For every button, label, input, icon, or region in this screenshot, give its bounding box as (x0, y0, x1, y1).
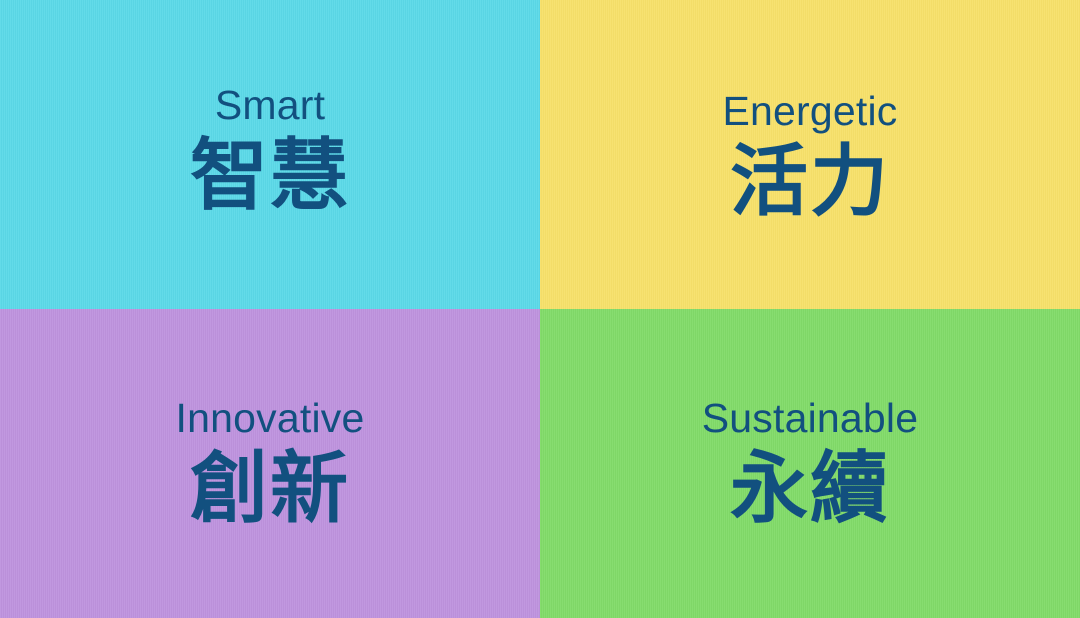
quadrant-sustainable-label-cjk: 永續 (730, 446, 890, 533)
quadrant-smart[interactable]: Smart 智慧 (0, 0, 540, 309)
quadrant-sustainable-content: Sustainable 永續 (702, 397, 918, 533)
quadrant-innovative-label-en: Innovative (176, 397, 365, 440)
quadrant-sustainable[interactable]: Sustainable 永續 (540, 309, 1080, 618)
quadrant-energetic-label-cjk: 活力 (730, 139, 890, 226)
quadrant-smart-label-cjk: 智慧 (190, 133, 350, 220)
quadrant-innovative[interactable]: Innovative 創新 (0, 309, 540, 618)
quadrant-smart-content: Smart 智慧 (190, 84, 350, 220)
quadrant-energetic-label-en: Energetic (722, 90, 897, 133)
quadrant-innovative-label-cjk: 創新 (190, 446, 350, 533)
quadrant-sustainable-label-en: Sustainable (702, 397, 918, 440)
quadrant-innovative-content: Innovative 創新 (176, 397, 365, 533)
quadrant-energetic-content: Energetic 活力 (722, 90, 897, 226)
quadrant-energetic[interactable]: Energetic 活力 (540, 0, 1080, 309)
quadrant-grid: Smart 智慧 Energetic 活力 Innovative 創新 Sust… (0, 0, 1080, 618)
quadrant-smart-label-en: Smart (215, 84, 325, 127)
